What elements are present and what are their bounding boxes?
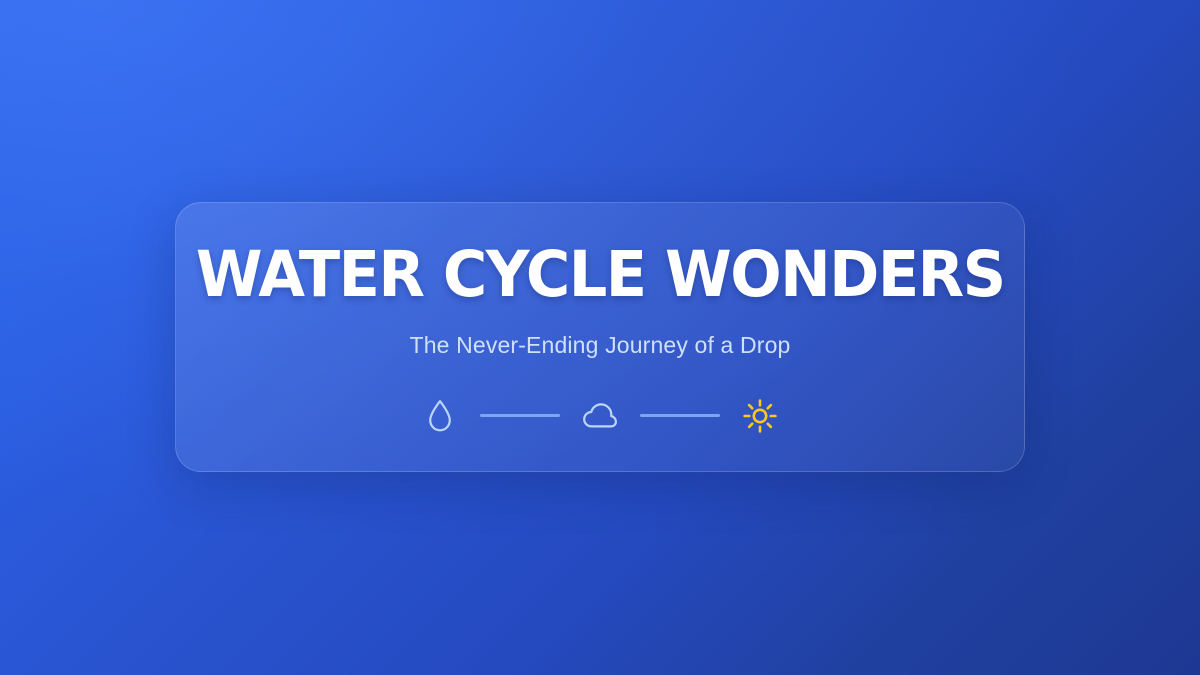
hero-card: WATER CYCLE WONDERS The Never-Ending Jou… <box>175 202 1025 472</box>
cycle-connector-1 <box>480 414 560 417</box>
page-title: WATER CYCLE WONDERS <box>196 243 1005 306</box>
page-subtitle: The Never-Ending Journey of a Drop <box>410 332 791 359</box>
cloud-icon <box>583 396 617 436</box>
sun-icon <box>743 396 777 436</box>
water-cycle-diagram <box>423 396 777 436</box>
water-drop-icon <box>423 396 457 436</box>
cycle-connector-2 <box>640 414 720 417</box>
